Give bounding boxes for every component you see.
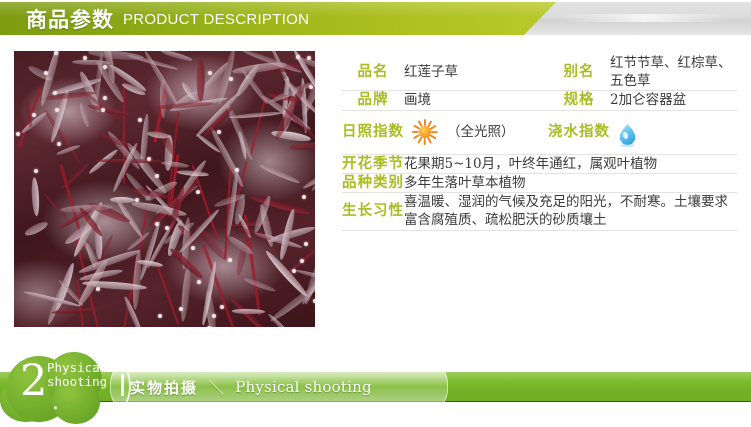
photo-leaf <box>110 196 135 203</box>
badge-caption: Physical shooting <box>47 361 107 389</box>
spec-value: 喜温暖、湿润的气候及充足的阳光，不耐寒。土壤要求富含腐殖质、疏松肥沃的砂质壤土 <box>404 193 737 230</box>
sun-ray <box>418 137 423 144</box>
photo-bud <box>196 190 200 194</box>
photo-bud <box>34 169 38 173</box>
spec-value-sunlight: （全光照） <box>404 110 548 154</box>
spec-label: 生长习性 <box>342 193 404 230</box>
badge-caption-line2: shooting <box>47 375 107 389</box>
sun-icon <box>412 119 438 145</box>
product-spec-table: 品名 红莲子草 别名 红节节草、红棕草、五色草 品牌 画境 规格 2加仑容器盆 … <box>342 54 737 231</box>
sun-ray <box>430 125 437 130</box>
spec-label: 别名 <box>548 54 610 91</box>
drop-shadow <box>620 144 635 147</box>
photo-bud <box>197 280 201 284</box>
spec-value: 花果期5~10月，叶终年通红，属观叶植物 <box>404 154 737 173</box>
photo-bud <box>229 77 233 81</box>
badge-caption-line1: Physical <box>47 361 107 375</box>
photo-bud <box>292 269 296 273</box>
header-gray-shine <box>560 14 730 22</box>
table-row: 日照指数 （全光照） 浇水指数 <box>342 110 737 154</box>
badge-number-dot: . <box>52 390 59 415</box>
sun-ray <box>427 137 432 144</box>
photo-bud <box>57 142 61 146</box>
spec-value: 红莲子草 <box>404 54 548 91</box>
photo-bud <box>179 307 183 311</box>
sun-ray <box>431 131 438 133</box>
page-header: 商品参数 PRODUCT DESCRIPTION <box>0 0 751 38</box>
sun-ray <box>412 131 419 133</box>
sun-ray <box>418 120 423 127</box>
photo-bud <box>138 118 142 122</box>
page-title-en: PRODUCT DESCRIPTION <box>123 11 309 28</box>
spec-label: 日照指数 <box>342 110 404 154</box>
photo-bud <box>313 299 315 303</box>
badge-number: 2 <box>20 360 47 403</box>
product-photo <box>14 51 315 327</box>
spec-label: 开花季节 <box>342 154 404 173</box>
spec-value: 2加仑容器盆 <box>610 91 737 110</box>
page-title-cn: 商品参数 <box>26 4 114 34</box>
spec-label: 品牌 <box>342 91 404 110</box>
banner-label-en: Physical shooting <box>235 378 372 396</box>
banner-label-cn: 实物拍摄 <box>130 377 198 398</box>
spec-value: 多年生落叶草本植物 <box>404 173 737 192</box>
table-row: 品种类别 多年生落叶草本植物 <box>342 173 737 192</box>
table-row: 开花季节 花果期5~10月，叶终年通红，属观叶植物 <box>342 154 737 173</box>
photo-bud <box>147 157 151 161</box>
photo-bud <box>96 287 100 291</box>
photo-bud <box>155 222 159 226</box>
header-title-group: 商品参数 PRODUCT DESCRIPTION <box>26 4 309 34</box>
spec-value-watering <box>610 110 737 154</box>
photo-bud <box>296 55 300 59</box>
table-row: 生长习性 喜温暖、湿润的气候及充足的阳光，不耐寒。土壤要求富含腐殖质、疏松肥沃的… <box>342 193 737 230</box>
photo-bud <box>309 85 313 89</box>
banner-label-group: 实物拍摄 ＼ Physical shooting <box>130 376 372 398</box>
photo-bud <box>220 305 224 309</box>
photo-bud <box>135 198 139 202</box>
photo-bud <box>103 65 107 69</box>
photo-bud <box>16 132 20 136</box>
spec-value: 画境 <box>404 91 548 110</box>
photo-bud <box>235 168 239 172</box>
photo-bud <box>53 91 57 95</box>
sun-ray <box>424 119 426 126</box>
section-banner: 实物拍摄 ＼ Physical shooting 2 . Physical sh… <box>0 352 751 427</box>
spec-label: 浇水指数 <box>548 110 610 154</box>
sun-ray <box>424 138 426 145</box>
spec-value: 红节节草、红棕草、五色草 <box>610 54 737 91</box>
spec-label: 品名 <box>342 54 404 91</box>
table-row: 品名 红莲子草 别名 红节节草、红棕草、五色草 <box>342 54 737 91</box>
photo-bud <box>83 56 87 60</box>
photo-bud <box>217 130 221 134</box>
spec-label: 品种类别 <box>342 173 404 192</box>
sun-ray <box>430 134 437 139</box>
sunlight-text: （全光照） <box>447 123 515 141</box>
photo-bud <box>191 246 195 250</box>
spec-label: 规格 <box>548 91 610 110</box>
table-row: 品牌 画境 规格 2加仑容器盆 <box>342 91 737 110</box>
photo-bud <box>302 195 306 199</box>
photo-bud <box>32 113 36 117</box>
banner-separator: ＼ <box>209 377 224 398</box>
